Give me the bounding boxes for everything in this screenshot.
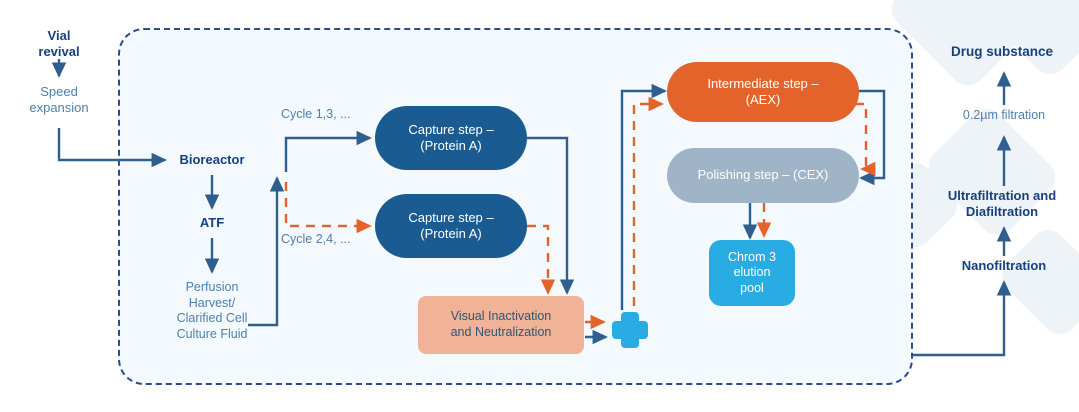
node-vial-revival: Vial revival <box>9 28 109 61</box>
box-intermediate-step-aex[interactable]: Intermediate step – (AEX) <box>667 62 859 122</box>
node-speed-expansion: Speed expansion <box>4 84 114 117</box>
box-capture-step-1[interactable]: Capture step – (Protein A) <box>375 106 527 170</box>
box-chrom3-elution-pool[interactable]: Chrom 3 elution pool <box>709 240 795 306</box>
node-nanofiltration: Nanofiltration <box>929 258 1079 274</box>
box-visual-inactivation[interactable]: Visual Inactivation and Neutralization <box>418 296 584 354</box>
label-cycle-odd: Cycle 1,3, ... <box>281 107 385 123</box>
node-micron-filtration: 0.2µm filtration <box>929 108 1079 124</box>
box-capture-step-2[interactable]: Capture step – (Protein A) <box>375 194 527 258</box>
label-cycle-even: Cycle 2,4, ... <box>281 232 385 248</box>
node-perfusion-harvest: Perfusion Harvest/ Clarified Cell Cultur… <box>152 280 272 343</box>
node-drug-substance: Drug substance <box>924 44 1079 61</box>
node-ultrafiltration-diafiltration: Ultrafiltration and Diafiltration <box>924 188 1079 221</box>
tee-junction-connector <box>612 312 648 348</box>
node-bioreactor: Bioreactor <box>162 152 262 168</box>
node-atf: ATF <box>172 215 252 231</box>
tee-vertical-bar <box>621 312 639 348</box>
process-flow-diagram: Vial revival Speed expansion Bioreactor … <box>0 0 1079 412</box>
box-polishing-step-cex[interactable]: Polishing step – (CEX) <box>667 148 859 203</box>
